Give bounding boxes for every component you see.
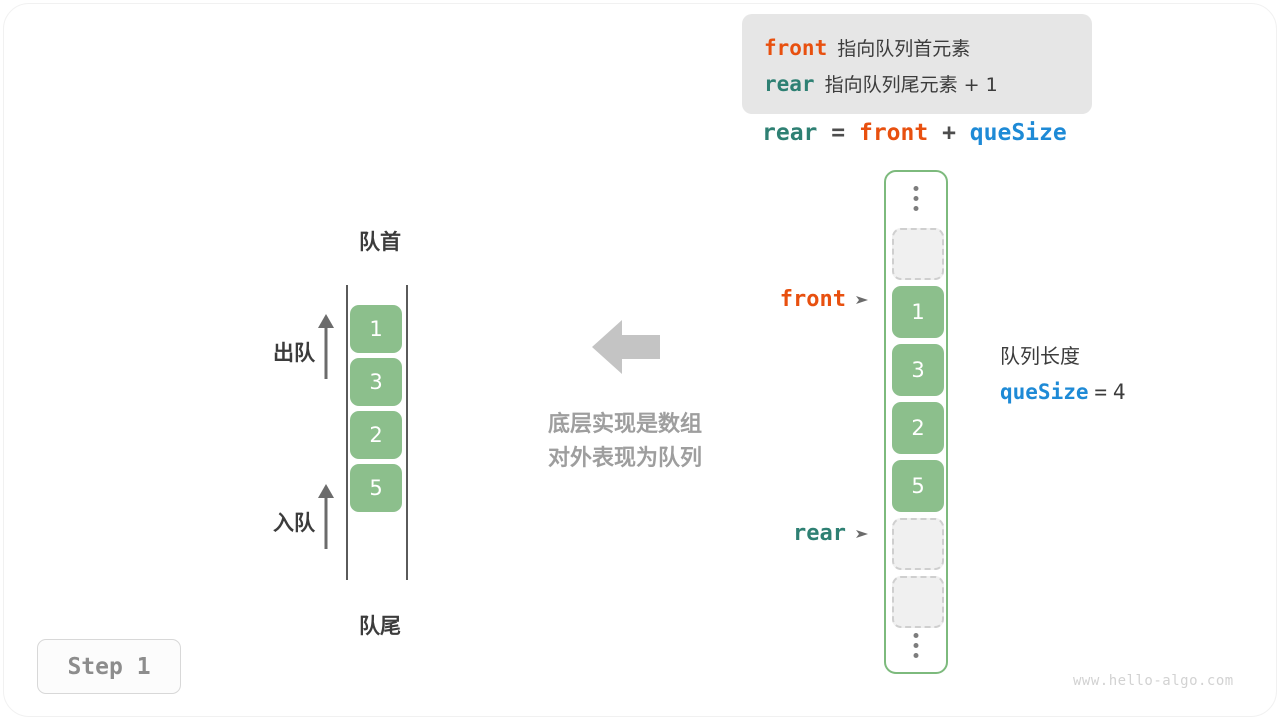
legend-keyword-front: front bbox=[764, 36, 827, 60]
array-cell-3: 2 bbox=[892, 402, 944, 454]
quesize-equals: = bbox=[1094, 380, 1107, 404]
dequeue-arrow-icon bbox=[315, 313, 337, 379]
pointer-front: front bbox=[700, 287, 870, 312]
array-cell-5 bbox=[892, 518, 944, 570]
legend-box: front指向队列首元素 rear指向队列尾元素 + 1 bbox=[742, 14, 1092, 114]
formula-equals: = bbox=[831, 120, 845, 146]
quesize-number: 4 bbox=[1113, 380, 1126, 404]
array-cell-1: 1 bbox=[892, 286, 944, 338]
legend-desc-front: 指向队列首元素 bbox=[837, 38, 970, 60]
legend-line-front: front指向队列首元素 bbox=[764, 36, 970, 61]
formula-rhs-front: front bbox=[859, 120, 928, 146]
quesize-variable: queSize bbox=[1000, 380, 1089, 404]
queue-head-label: 队首 bbox=[330, 226, 430, 256]
queue-rail-left bbox=[346, 285, 348, 580]
center-note-line-1: 底层实现是数组 bbox=[515, 408, 735, 442]
array-cell-2: 3 bbox=[892, 344, 944, 396]
formula-rhs-quesize: queSize bbox=[970, 120, 1067, 146]
center-note: 底层实现是数组 对外表现为队列 bbox=[515, 408, 735, 476]
formula-lhs: rear bbox=[762, 120, 817, 146]
queue-cell-3: 5 bbox=[350, 464, 402, 512]
pointer-arrow-right-icon bbox=[856, 527, 870, 541]
step-badge: Step 1 bbox=[37, 639, 181, 694]
queue-size-title: 队列长度 bbox=[1000, 340, 1126, 369]
watermark: www.hello-algo.com bbox=[1073, 673, 1234, 689]
array-ellipsis-top-icon bbox=[914, 186, 919, 211]
queue-size-note: 队列长度 queSize = 4 bbox=[1000, 340, 1126, 405]
legend-keyword-rear: rear bbox=[764, 72, 815, 96]
array-cell-4: 5 bbox=[892, 460, 944, 512]
center-note-line-2: 对外表现为队列 bbox=[515, 442, 735, 476]
enqueue-label: 入队 bbox=[245, 507, 315, 537]
queue-cell-1: 3 bbox=[350, 358, 402, 406]
pointer-rear-label: rear bbox=[793, 521, 846, 546]
legend-desc-rear: 指向队列尾元素 + 1 bbox=[825, 74, 998, 96]
pointer-arrow-right-icon bbox=[856, 293, 870, 307]
array-container: 1 3 2 5 bbox=[884, 170, 948, 674]
formula-rear-equals-front-plus-quesize: rear = front + queSize bbox=[762, 120, 1067, 146]
queue-size-value-line: queSize = 4 bbox=[1000, 380, 1126, 405]
array-cell-6 bbox=[892, 576, 944, 628]
pointer-front-label: front bbox=[780, 287, 846, 312]
diagram-canvas: front指向队列首元素 rear指向队列尾元素 + 1 rear = fron… bbox=[0, 0, 1280, 720]
queue-rail-right bbox=[406, 285, 408, 580]
legend-line-rear: rear指向队列尾元素 + 1 bbox=[764, 72, 998, 97]
formula-plus: + bbox=[942, 120, 956, 146]
pointer-rear: rear bbox=[700, 521, 870, 546]
dequeue-label: 出队 bbox=[245, 337, 315, 367]
queue-cell-2: 2 bbox=[350, 411, 402, 459]
queue-tail-label: 队尾 bbox=[330, 610, 430, 640]
array-ellipsis-bottom-icon bbox=[914, 633, 919, 658]
left-pointing-arrow-icon bbox=[592, 318, 660, 376]
array-cell-0 bbox=[892, 228, 944, 280]
queue-cell-0: 1 bbox=[350, 305, 402, 353]
enqueue-arrow-icon bbox=[315, 483, 337, 549]
